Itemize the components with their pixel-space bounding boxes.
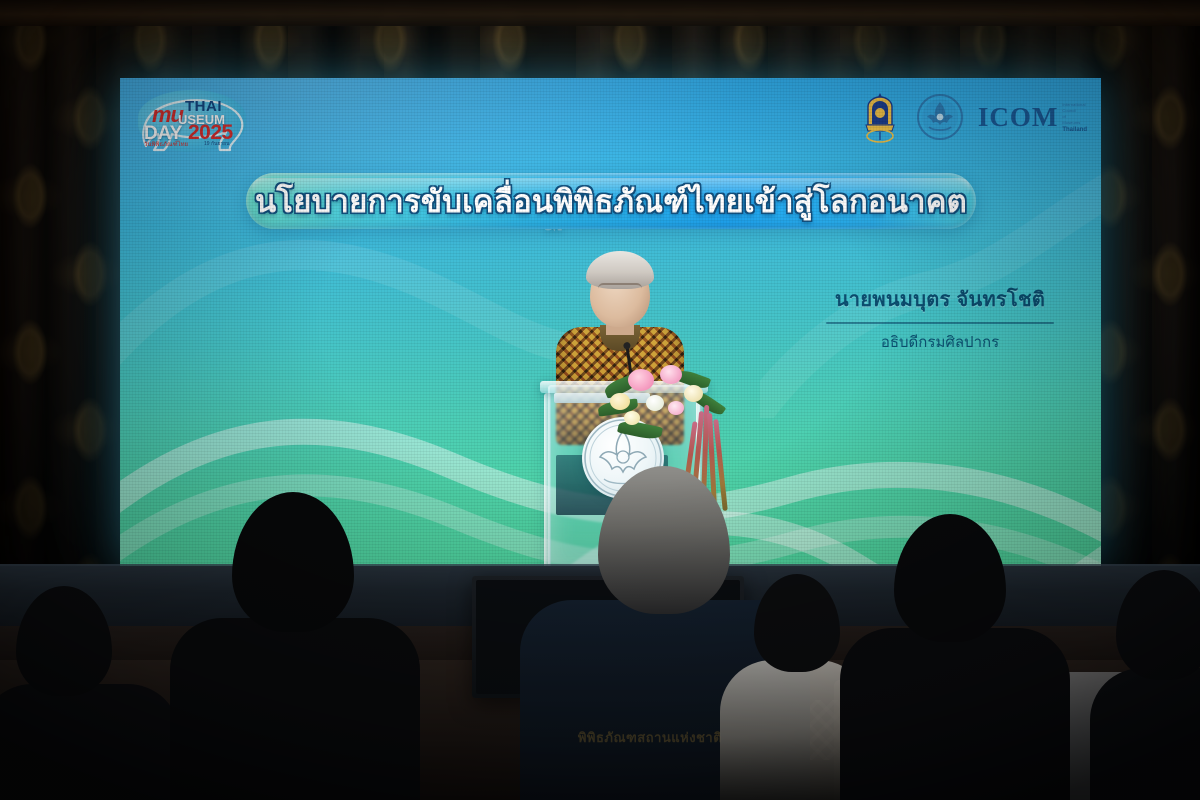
speaker-role: อธิบดีกรมศิลปากร: [810, 330, 1070, 354]
curtain-pelmet: [0, 0, 1200, 26]
thai-museum-day-logo: mu THAI USEUM DAY 2025 วันพิพิธภัณฑ์ไทย …: [138, 88, 246, 154]
icom-tagline-line-2: Council: [1062, 108, 1087, 113]
jacket-embroidery-text: พิพิธภัณฑสถานแห่งชาติ: [555, 727, 745, 748]
audience-shoulders: [0, 684, 180, 800]
logo-year: 2025: [188, 122, 233, 143]
icom-wordmark: ICOM: [978, 104, 1059, 131]
audience-shoulders: [840, 628, 1070, 800]
slide-title-text: นโยบายการขับเคลื่อนพิพิธภัณฑ์ไทยเข้าสู่โ…: [255, 176, 967, 226]
audience-member-left: [170, 530, 420, 800]
conference-stage-scene: mu THAI USEUM DAY 2025 วันพิพิธภัณฑ์ไทย …: [0, 0, 1200, 800]
logo-day-word: DAY: [144, 124, 182, 143]
audience-shoulders: [1090, 668, 1200, 800]
audience-shoulders: [170, 618, 420, 800]
speaker-credit-block: นายพนมบุตร จันทรโชติ อธิบดีกรมศิลปากร: [810, 283, 1070, 354]
icom-country-label: Thailand: [1062, 127, 1087, 133]
icom-tagline: International Council of Museums Thailan…: [1062, 102, 1087, 133]
icom-thailand-logo: ICOM International Council of Museums Th…: [978, 102, 1087, 133]
partner-logo-row: ICOM International Council of Museums Th…: [858, 90, 1087, 144]
icom-tagline-line-4: Museums: [1062, 120, 1087, 125]
credit-divider: [826, 322, 1054, 324]
logo-sub-thai: วันพิพิธภัณฑ์ไทย: [144, 142, 188, 148]
icom-tagline-line-1: International: [1062, 102, 1087, 107]
speaker-eyeglasses-icon: [598, 283, 642, 294]
audience-member-far-right: [1090, 600, 1200, 800]
audience-member-far-left: [0, 620, 180, 800]
slide-title-banner: นโยบายการขับเคลื่อนพิพิธภัณฑ์ไทยเข้าสู่โ…: [246, 173, 976, 229]
logo-sub-small: 19 กันยายน: [204, 142, 229, 147]
speaker-name: นายพนมบุตร จันทรโชติ: [810, 283, 1070, 315]
ministry-seal-logo-icon: [916, 93, 964, 141]
icom-tagline-line-3: of: [1062, 114, 1087, 119]
royal-emblem-logo-icon: [858, 91, 902, 143]
audience-member-right: [840, 550, 1070, 800]
